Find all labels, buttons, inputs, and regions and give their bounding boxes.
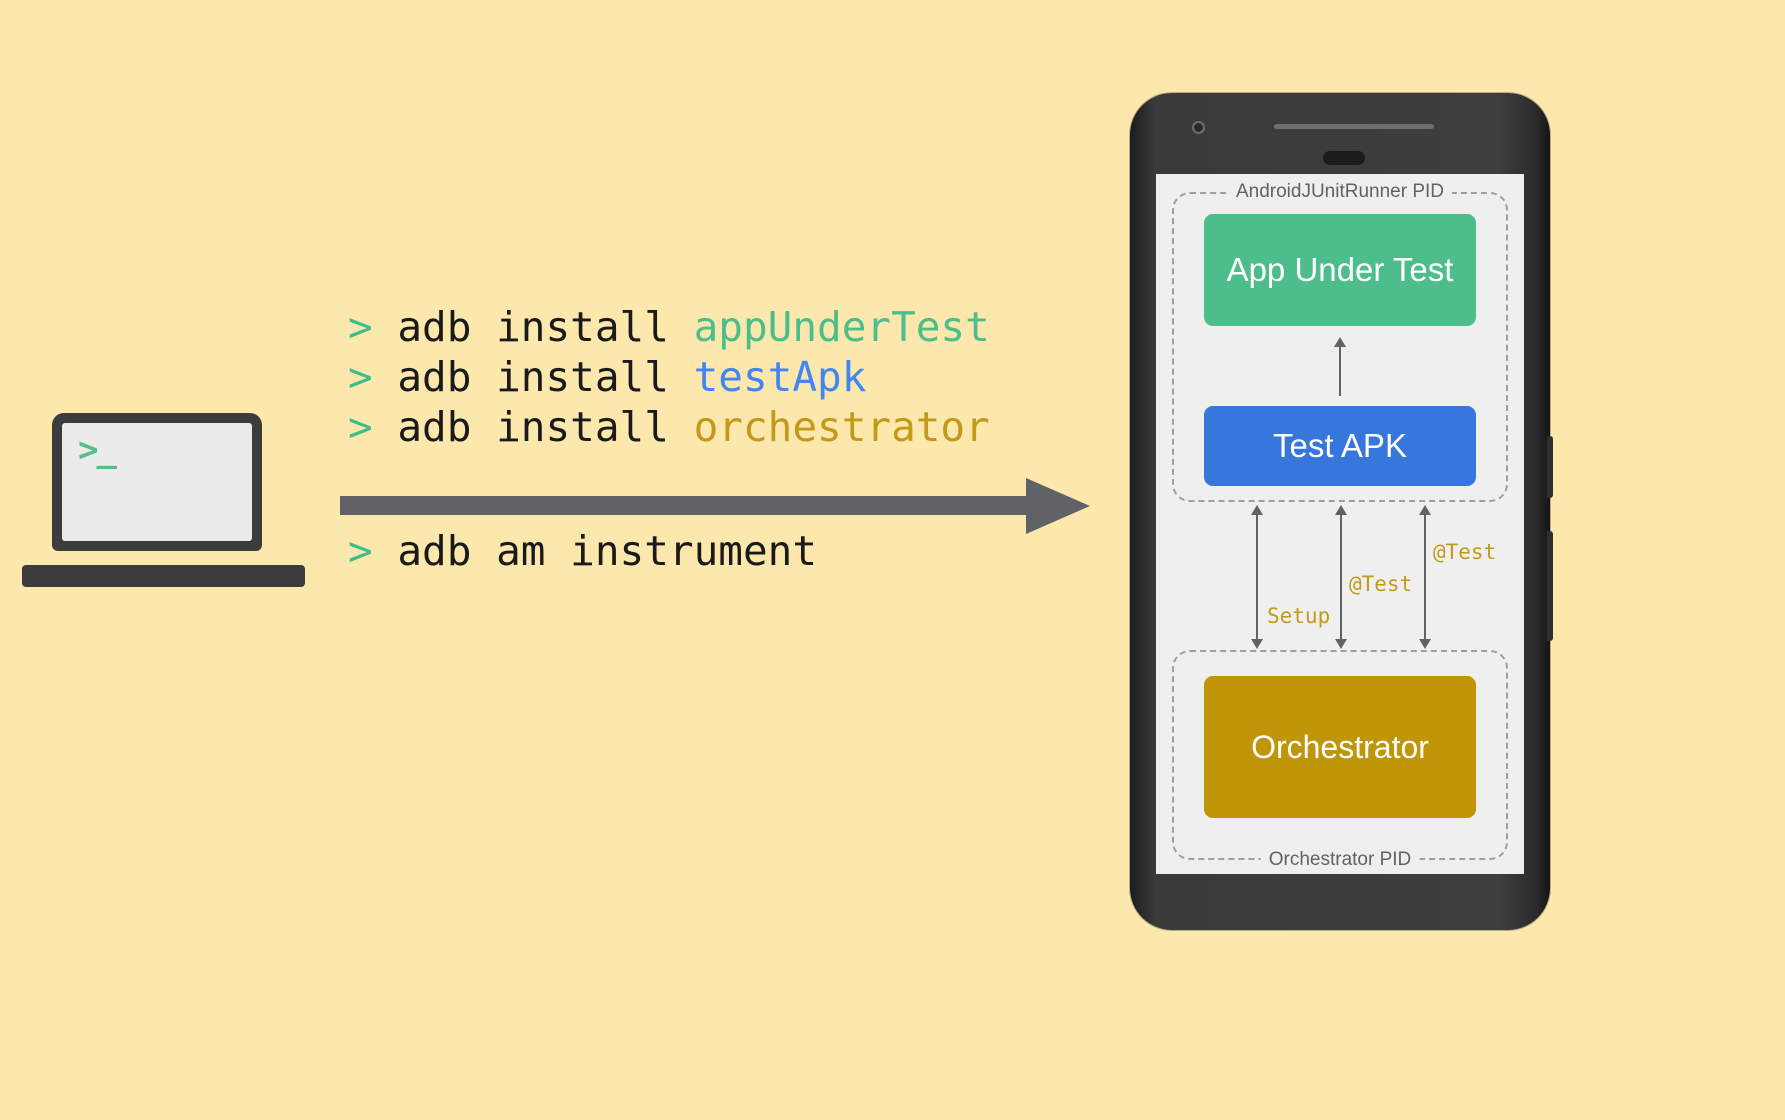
power-button[interactable]: [1547, 436, 1553, 498]
android-phone: AndroidJUnitRunner PID Orchestrator PID …: [1130, 93, 1550, 930]
prompt-symbol: >: [348, 353, 373, 401]
prompt-symbol: >: [348, 527, 373, 575]
component-app-under-test[interactable]: App Under Test: [1204, 214, 1476, 326]
arrow-head-down-icon: [1335, 639, 1347, 649]
component-orchestrator[interactable]: Orchestrator: [1204, 676, 1476, 818]
connector-label-test-middle: @Test: [1346, 570, 1415, 598]
arrow-head: [1026, 478, 1090, 534]
terminal-line: > adb install testApk: [348, 352, 1048, 402]
command-text: adb install: [397, 303, 669, 351]
phone-screen: AndroidJUnitRunner PID Orchestrator PID …: [1156, 174, 1524, 874]
command-argument: appUnderTest: [694, 303, 990, 351]
developer-workstation: >_: [22, 413, 305, 598]
deploy-arrow-icon: [340, 478, 1100, 534]
laptop-screen: >_: [62, 423, 252, 541]
command-text: adb install: [397, 353, 669, 401]
process-region-orchestrator-label: Orchestrator PID: [1261, 850, 1420, 870]
connector-label-setup: Setup: [1264, 602, 1333, 630]
front-camera-icon: [1192, 121, 1205, 134]
prompt-symbol: >: [348, 403, 373, 451]
terminal-command-list: > adb install appUnderTest > adb install…: [348, 302, 1048, 576]
arrow-head-down-icon: [1419, 639, 1431, 649]
arrow-head-up-icon: [1334, 337, 1346, 347]
connector-test-right: [1424, 514, 1426, 640]
earpiece-icon: [1323, 151, 1365, 165]
command-text: [373, 303, 398, 351]
arrow-head-down-icon: [1251, 639, 1263, 649]
command-argument: testApk: [694, 353, 867, 401]
connector-setup: [1256, 514, 1258, 640]
volume-button[interactable]: [1547, 531, 1553, 641]
speaker-grille-icon: [1274, 124, 1434, 129]
component-test-apk[interactable]: Test APK: [1204, 406, 1476, 486]
command-text: adb am instrument: [397, 527, 817, 575]
arrow-shaft: [340, 496, 1030, 515]
command-text: adb install: [397, 403, 669, 451]
laptop-base: [22, 565, 305, 587]
arrow-head-up-icon: [1419, 505, 1431, 515]
laptop-lid: >_: [52, 413, 262, 551]
terminal-line: > adb install orchestrator: [348, 402, 1048, 452]
connector-apk-to-app: [1339, 346, 1341, 396]
arrow-head-up-icon: [1335, 505, 1347, 515]
process-region-runner-label: AndroidJUnitRunner PID: [1228, 182, 1452, 202]
command-argument: orchestrator: [694, 403, 990, 451]
connector-label-test-right: @Test: [1430, 538, 1499, 566]
terminal-line: > adb install appUnderTest: [348, 302, 1048, 352]
connector-test-middle: [1340, 514, 1342, 640]
prompt-symbol: >: [348, 303, 373, 351]
terminal-prompt-icon: >_: [78, 433, 115, 467]
arrow-head-up-icon: [1251, 505, 1263, 515]
diagram-canvas: >_ > adb install appUnderTest > adb inst…: [0, 0, 1785, 1120]
